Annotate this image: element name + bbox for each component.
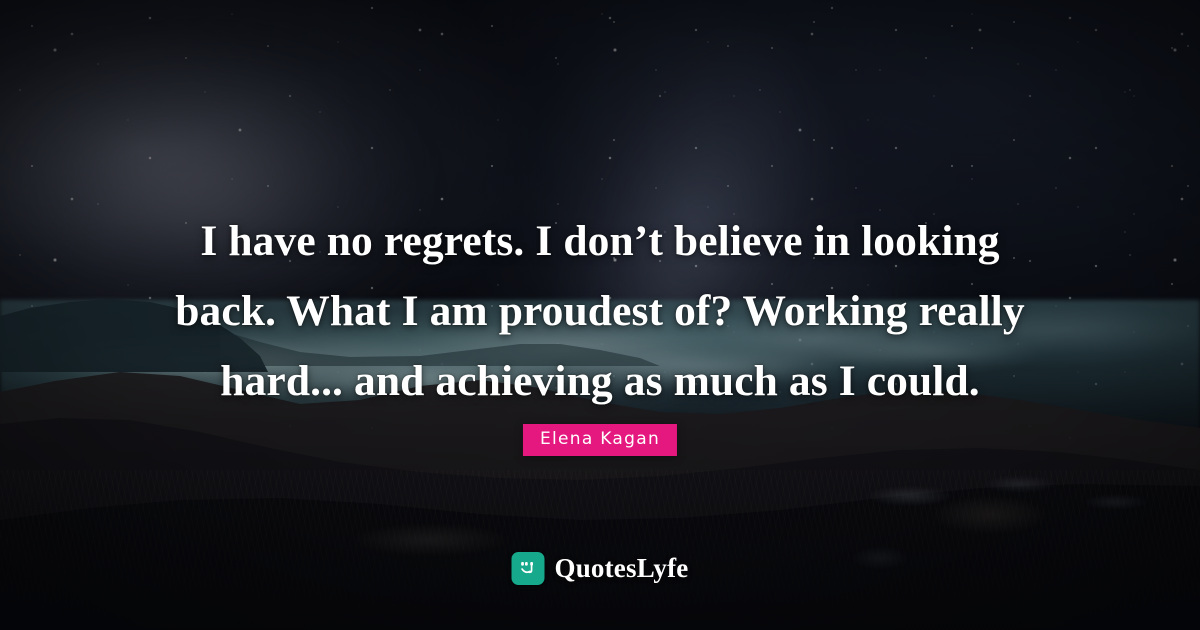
- quote-poster: I have no regrets. I don’t believe in lo…: [0, 0, 1200, 630]
- quote-text: I have no regrets. I don’t believe in lo…: [50, 206, 1150, 416]
- author-badge: Elena Kagan: [523, 424, 677, 456]
- poster-content: I have no regrets. I don’t believe in lo…: [0, 0, 1200, 630]
- brand-name: QuotesLyfe: [555, 553, 689, 584]
- quote-smiley-icon: [512, 552, 545, 585]
- brand-logo[interactable]: QuotesLyfe: [512, 552, 689, 585]
- quote-block: I have no regrets. I don’t believe in lo…: [50, 206, 1150, 416]
